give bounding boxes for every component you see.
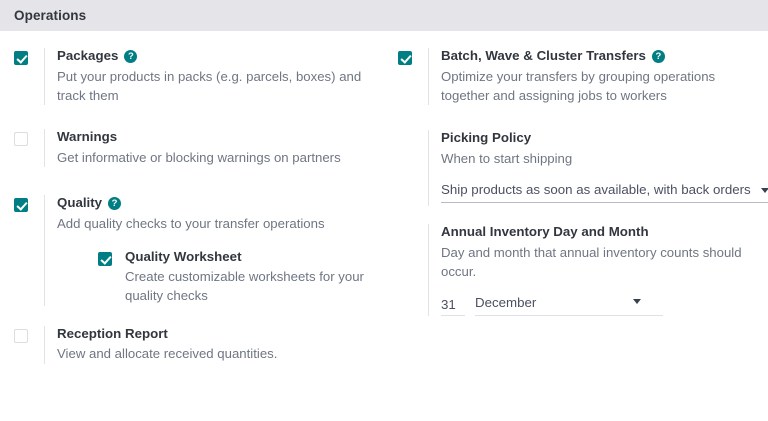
packages-description: Put your products in packs (e.g. parcels… [57, 67, 367, 105]
reception-report-checkbox-cell[interactable] [14, 326, 44, 343]
setting-packages[interactable]: Packages ? Put your products in packs (e… [14, 48, 380, 105]
quality-description: Add quality checks to your transfer oper… [57, 214, 375, 233]
reception-report-content: Reception Report View and allocate recei… [57, 326, 380, 364]
packages-checkbox-cell[interactable] [14, 48, 44, 65]
field-picking-policy: Picking Policy When to start shipping Sh… [398, 130, 764, 206]
divider [44, 326, 45, 364]
packages-content: Packages ? Put your products in packs (e… [57, 48, 380, 105]
quality-worksheet-content: Quality Worksheet Create customizable wo… [125, 249, 380, 306]
annual-inventory-label: Annual Inventory Day and Month [441, 224, 649, 241]
right-column: Batch, Wave & Cluster Transfers ? Optimi… [384, 48, 768, 384]
setting-quality[interactable]: Quality ? Add quality checks to your tra… [14, 195, 380, 306]
divider [428, 224, 429, 316]
packages-checkbox[interactable] [14, 51, 28, 65]
chevron-down-icon[interactable] [761, 188, 768, 193]
section-header: Operations [0, 0, 768, 31]
batch-transfers-description: Optimize your transfers by grouping oper… [441, 67, 759, 105]
picking-policy-label: Picking Policy [441, 130, 531, 147]
reception-report-label: Reception Report [57, 326, 168, 343]
chevron-down-icon[interactable] [633, 299, 641, 304]
picking-policy-label-row: Picking Policy [441, 130, 764, 147]
quality-worksheet-checkbox-cell[interactable] [98, 249, 125, 266]
left-column: Packages ? Put your products in packs (e… [0, 48, 384, 384]
help-circle-icon[interactable]: ? [108, 197, 121, 210]
quality-label-row: Quality ? [57, 195, 380, 212]
settings-page: Operations Packages ? Put your products … [0, 0, 768, 421]
picking-policy-description: When to start shipping [441, 149, 759, 168]
settings-body: Packages ? Put your products in packs (e… [0, 31, 768, 384]
annual-inventory-month-select[interactable]: December [475, 294, 663, 316]
warnings-content: Warnings Get informative or blocking war… [57, 129, 380, 167]
warnings-label-row: Warnings [57, 129, 380, 146]
warnings-label: Warnings [57, 129, 117, 146]
quality-worksheet-label-row: Quality Worksheet [125, 249, 380, 266]
quality-worksheet-checkbox[interactable] [98, 252, 112, 266]
divider [44, 48, 45, 105]
help-circle-icon[interactable]: ? [652, 50, 665, 63]
annual-inventory-description: Day and month that annual inventory coun… [441, 243, 759, 281]
annual-inventory-content: Annual Inventory Day and Month Day and m… [441, 224, 764, 316]
reception-report-checkbox[interactable] [14, 329, 28, 343]
picking-policy-content: Picking Policy When to start shipping Sh… [441, 130, 764, 203]
reception-report-description: View and allocate received quantities. [57, 344, 375, 363]
warnings-checkbox[interactable] [14, 132, 28, 146]
batch-transfers-checkbox-cell[interactable] [398, 48, 428, 65]
annual-inventory-label-row: Annual Inventory Day and Month [441, 224, 764, 241]
divider [44, 129, 45, 167]
reception-report-label-row: Reception Report [57, 326, 380, 343]
divider [428, 130, 429, 206]
quality-checkbox[interactable] [14, 198, 28, 212]
batch-transfers-checkbox[interactable] [398, 51, 412, 65]
picking-policy-select[interactable]: Ship products as soon as available, with… [441, 181, 768, 203]
quality-checkbox-cell[interactable] [14, 195, 44, 212]
quality-content: Quality ? Add quality checks to your tra… [57, 195, 380, 306]
divider [428, 48, 429, 105]
setting-warnings[interactable]: Warnings Get informative or blocking war… [14, 129, 380, 167]
help-circle-icon[interactable]: ? [124, 50, 137, 63]
divider [44, 195, 45, 306]
picking-policy-selected-value: Ship products as soon as available, with… [441, 182, 751, 197]
quality-label: Quality [57, 195, 102, 212]
batch-transfers-label: Batch, Wave & Cluster Transfers [441, 48, 646, 65]
annual-inventory-month-value: December [475, 295, 536, 310]
warnings-checkbox-cell[interactable] [14, 129, 44, 146]
batch-transfers-label-row: Batch, Wave & Cluster Transfers ? [441, 48, 764, 65]
setting-reception-report[interactable]: Reception Report View and allocate recei… [14, 326, 380, 364]
quality-worksheet-label: Quality Worksheet [125, 249, 242, 266]
packages-label: Packages [57, 48, 118, 65]
setting-quality-worksheet[interactable]: Quality Worksheet Create customizable wo… [98, 249, 380, 306]
page-title: Operations [14, 8, 86, 23]
field-annual-inventory: Annual Inventory Day and Month Day and m… [398, 224, 764, 316]
batch-transfers-content: Batch, Wave & Cluster Transfers ? Optimi… [441, 48, 764, 105]
packages-label-row: Packages ? [57, 48, 380, 65]
warnings-description: Get informative or blocking warnings on … [57, 148, 375, 167]
annual-inventory-date-row: December [441, 294, 764, 316]
annual-inventory-day-input[interactable] [441, 297, 465, 316]
setting-batch-transfers[interactable]: Batch, Wave & Cluster Transfers ? Optimi… [398, 48, 764, 105]
quality-worksheet-description: Create customizable worksheets for your … [125, 267, 375, 305]
